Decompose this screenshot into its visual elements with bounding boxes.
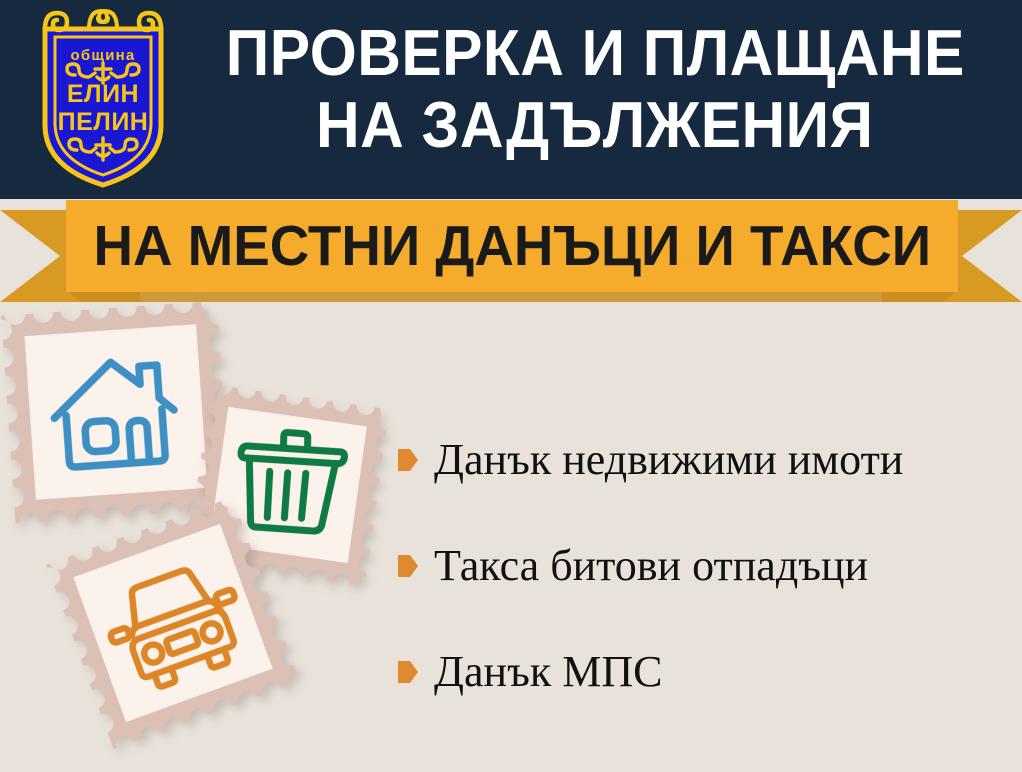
- list-item-label: Данък МПС: [434, 647, 662, 697]
- title-line-1: ПРОВЕРКА И ПЛАЩАНЕ: [225, 17, 964, 89]
- logo-name-line-2: ПЕЛИН: [58, 108, 149, 136]
- list-item[interactable]: Данък недвижими имоти: [398, 430, 903, 490]
- page-title: ПРОВЕРКА И ПЛАЩАНЕ НА ЗАДЪЛЖЕНИЯ: [180, 17, 1010, 187]
- list-item[interactable]: Данък МПС: [398, 642, 662, 702]
- list-item-label: Такса битови отпадъци: [434, 541, 868, 591]
- ribbon-band: НА МЕСТНИ ДАНЪЦИ И ТАКСИ: [66, 200, 958, 292]
- arrow-bullet-icon: [398, 661, 418, 683]
- stamp-collage: [0, 300, 400, 772]
- list-item[interactable]: Такса битови отпадъци: [398, 536, 868, 596]
- arrow-bullet-icon: [398, 449, 418, 471]
- arrow-bullet-icon: [398, 555, 418, 577]
- poster-root: община ЕЛИН ПЕЛИН ПРОВЕРКА: [0, 0, 1022, 772]
- tax-type-list: Данък недвижими имоти Такса битови отпад…: [398, 424, 1018, 714]
- list-item-label: Данък недвижими имоти: [434, 435, 903, 485]
- subtitle-ribbon: НА МЕСТНИ ДАНЪЦИ И ТАКСИ: [0, 196, 1022, 306]
- municipality-logo: община ЕЛИН ПЕЛИН: [33, 7, 173, 190]
- title-line-2: НА ЗАДЪЛЖЕНИЯ: [316, 89, 873, 161]
- stamp-paper: [24, 324, 207, 500]
- logo-name-line-1: ЕЛИН: [67, 80, 139, 108]
- ribbon-label: НА МЕСТНИ ДАНЪЦИ И ТАКСИ: [93, 218, 931, 275]
